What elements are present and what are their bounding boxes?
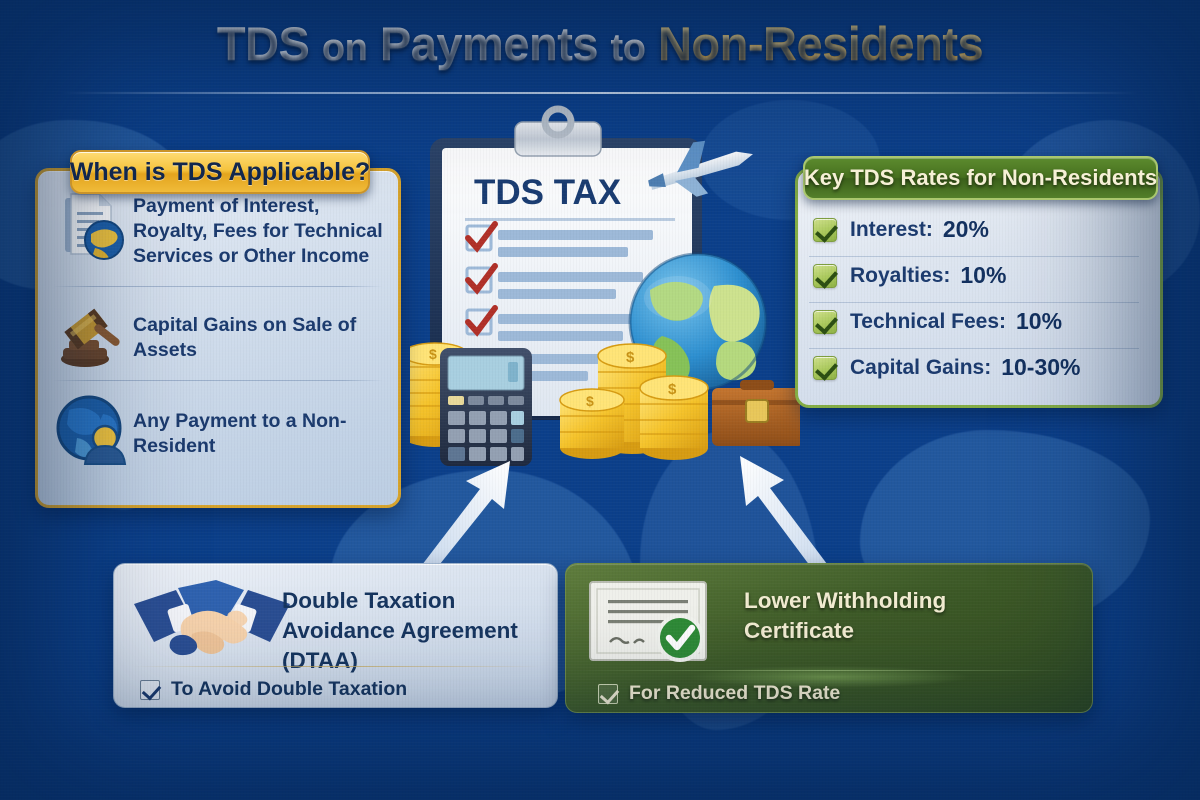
document-globe-icon: [55, 192, 133, 271]
rate-divider: [809, 348, 1139, 349]
title-part-nonresidents: Non-Residents: [658, 17, 983, 70]
list-item-label: Capital Gains on Sale of Assets: [133, 313, 385, 363]
list-item-label: Any Payment to a Non-Resident: [133, 409, 385, 459]
rate-row: Technical Fees: 10%: [813, 308, 1062, 335]
list-item: Capital Gains on Sale of Assets: [55, 298, 385, 377]
lower-withholding-box: Lower Withholding Certificate For Reduce…: [565, 563, 1093, 713]
check-icon: [140, 680, 160, 700]
list-divider: [53, 380, 383, 381]
title-part-to: to: [611, 27, 646, 69]
central-illustration: TDS TAX: [410, 100, 800, 480]
certificate-check-icon: [588, 580, 718, 670]
rate-row: Interest: 20%: [813, 216, 989, 243]
lwc-title-line1: Lower Withholding: [744, 586, 946, 616]
rate-value: 10%: [1016, 308, 1062, 335]
infographic-canvas: TDS on Payments to Non-Residents: [0, 0, 1200, 800]
lwc-footer: For Reduced TDS Rate: [598, 682, 840, 705]
dtaa-title-line1: Double Taxation: [282, 586, 455, 616]
rate-divider: [809, 256, 1139, 257]
lwc-footer-label: For Reduced TDS Rate: [629, 682, 840, 705]
svg-text:$: $: [668, 381, 677, 398]
list-item: Any Payment to a Non-Resident: [55, 394, 385, 473]
list-item: Payment of Interest, Royalty, Fees for T…: [55, 192, 385, 271]
list-item-label: Payment of Interest, Royalty, Fees for T…: [133, 194, 385, 269]
lwc-divider: [582, 670, 1078, 671]
briefcase-icon: [712, 380, 800, 446]
handshake-icon: [132, 578, 292, 675]
title-part-tds: TDS: [217, 17, 310, 70]
dtaa-title-line2: Avoidance Agreement (DTAA): [282, 616, 557, 676]
rate-row: Capital Gains: 10-30%: [813, 354, 1080, 381]
svg-text:TDS TAX: TDS TAX: [474, 173, 622, 212]
illustration-svg: TDS TAX: [410, 100, 800, 480]
check-icon: [813, 310, 837, 334]
when-applicable-header: When is TDS Applicable?: [70, 150, 370, 194]
check-icon: [598, 684, 618, 704]
dtaa-divider: [132, 666, 542, 667]
rate-label: Capital Gains:: [850, 356, 991, 380]
list-divider: [53, 286, 383, 287]
rate-label: Technical Fees:: [850, 310, 1006, 334]
page-title: TDS on Payments to Non-Residents: [0, 14, 1200, 78]
rate-label: Royalties:: [850, 264, 950, 288]
check-icon: [813, 356, 837, 380]
globe-person-icon: [55, 394, 133, 473]
title-part-on: on: [322, 27, 367, 69]
tds-rates-panel: Interest: 20% Royalties: 10% Technical F…: [795, 168, 1163, 408]
dtaa-box: Double Taxation Avoidance Agreement (DTA…: [113, 563, 558, 708]
check-icon: [813, 264, 837, 288]
rate-row: Royalties: 10%: [813, 262, 1006, 289]
gavel-icon: [55, 298, 133, 377]
arrow-to-center-left: [418, 455, 528, 570]
arrow-to-center-right: [726, 448, 836, 573]
calculator-icon: [440, 348, 532, 466]
check-icon: [813, 218, 837, 242]
when-applicable-panel: Payment of Interest, Royalty, Fees for T…: [35, 168, 401, 508]
title-divider: [60, 92, 1140, 94]
rate-value: 10-30%: [1001, 354, 1080, 381]
dtaa-footer-label: To Avoid Double Taxation: [171, 678, 407, 701]
tds-rates-header: Key TDS Rates for Non-Residents: [803, 156, 1158, 200]
lwc-title-line2: Certificate: [744, 616, 854, 646]
rate-value: 20%: [943, 216, 989, 243]
svg-text:$: $: [626, 349, 635, 366]
dtaa-footer: To Avoid Double Taxation: [140, 678, 407, 701]
rate-label: Interest:: [850, 218, 933, 242]
svg-text:$: $: [429, 346, 437, 362]
svg-text:$: $: [586, 393, 594, 409]
title-part-payments: Payments: [380, 17, 598, 70]
rate-divider: [809, 302, 1139, 303]
rate-value: 10%: [960, 262, 1006, 289]
